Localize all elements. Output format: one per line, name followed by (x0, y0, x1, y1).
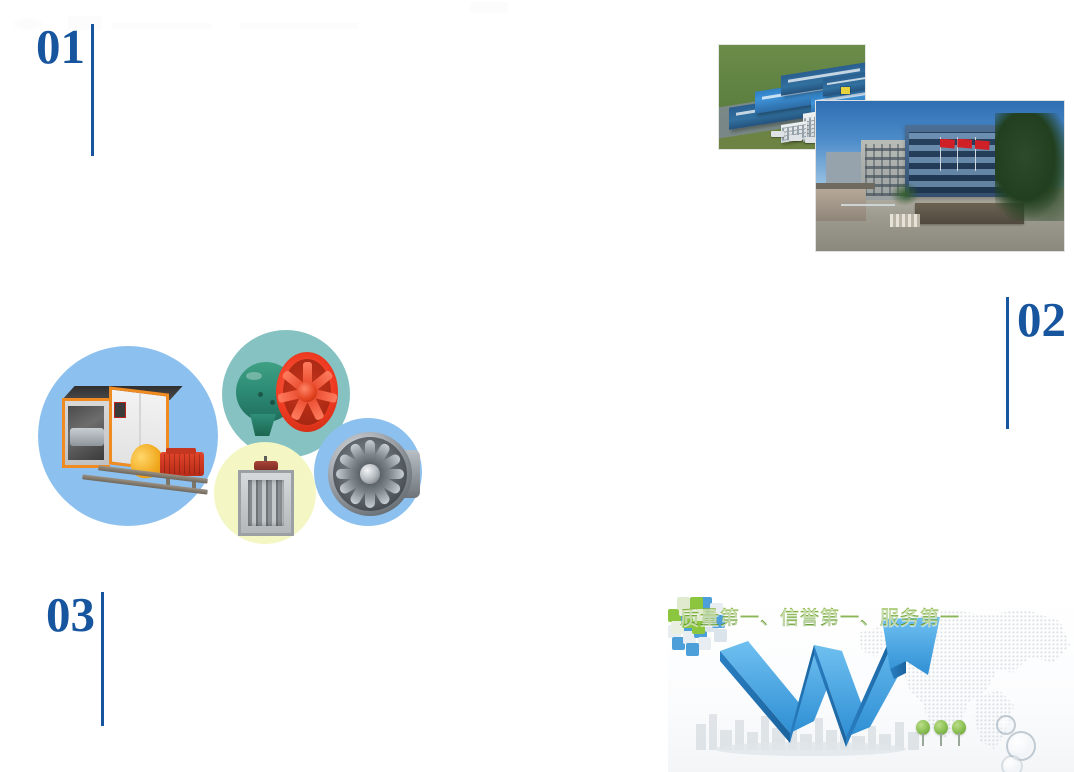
office-building-photo (815, 100, 1065, 252)
growth-slogan-banner: 质量第一、信誉第一、服务第一 (668, 595, 1074, 772)
section-divider-rule-01 (91, 24, 94, 156)
red-flag-3 (975, 140, 990, 150)
tree-icon-2 (934, 720, 948, 746)
tree-icon-1 (916, 720, 930, 746)
product-cabinet-box-fan (62, 382, 212, 502)
section-divider-rule-02 (1006, 297, 1009, 429)
page-root: 01 (0, 0, 1074, 772)
banner-slogan: 质量第一、信誉第一、服务第一 (680, 603, 960, 630)
section-number-01: 01 (36, 24, 94, 156)
box-fan-control-panel (114, 402, 126, 418)
top-artifact-a (470, 2, 508, 13)
aerial-truck-1 (771, 131, 784, 137)
axial-fan-mount-foot (250, 414, 276, 436)
damper-frame (238, 470, 294, 536)
tree-icon-3 (952, 720, 966, 746)
section-number-03: 03 (46, 592, 104, 726)
top-artifact-d (112, 23, 212, 29)
section-number-03-text: 03 (46, 592, 95, 637)
top-artifact-e (240, 23, 358, 29)
photo-barrier (890, 214, 920, 228)
axial-fan-bolt-1 (258, 392, 263, 397)
aerial-marker-1 (841, 87, 850, 94)
rising-arrow-icon (690, 617, 950, 757)
photo-shrub (890, 182, 920, 206)
photo-tree (995, 113, 1065, 221)
bubble-icon-3 (1001, 755, 1023, 772)
section-divider-rule-03 (101, 592, 104, 726)
red-flag-2 (957, 139, 972, 149)
box-fan-impeller (70, 428, 104, 446)
axial-fan-bolt-2 (270, 400, 275, 405)
section-number-02: 02 (1006, 297, 1066, 429)
product-silver-axial-fan (328, 432, 412, 516)
product-axial-flow-fan (236, 348, 340, 444)
section-number-01-text: 01 (36, 24, 85, 69)
photo-gate-arm (841, 204, 896, 206)
axial-fan-impeller-ring (276, 352, 338, 432)
red-flag-1 (940, 139, 955, 149)
product-air-damper-valve (238, 470, 294, 536)
silver-fan-shroud (328, 432, 412, 516)
box-fan-motor (160, 452, 204, 476)
aerial-truck-2 (789, 135, 802, 141)
product-photo-cluster (32, 320, 432, 555)
section-number-02-text: 02 (1017, 297, 1066, 342)
